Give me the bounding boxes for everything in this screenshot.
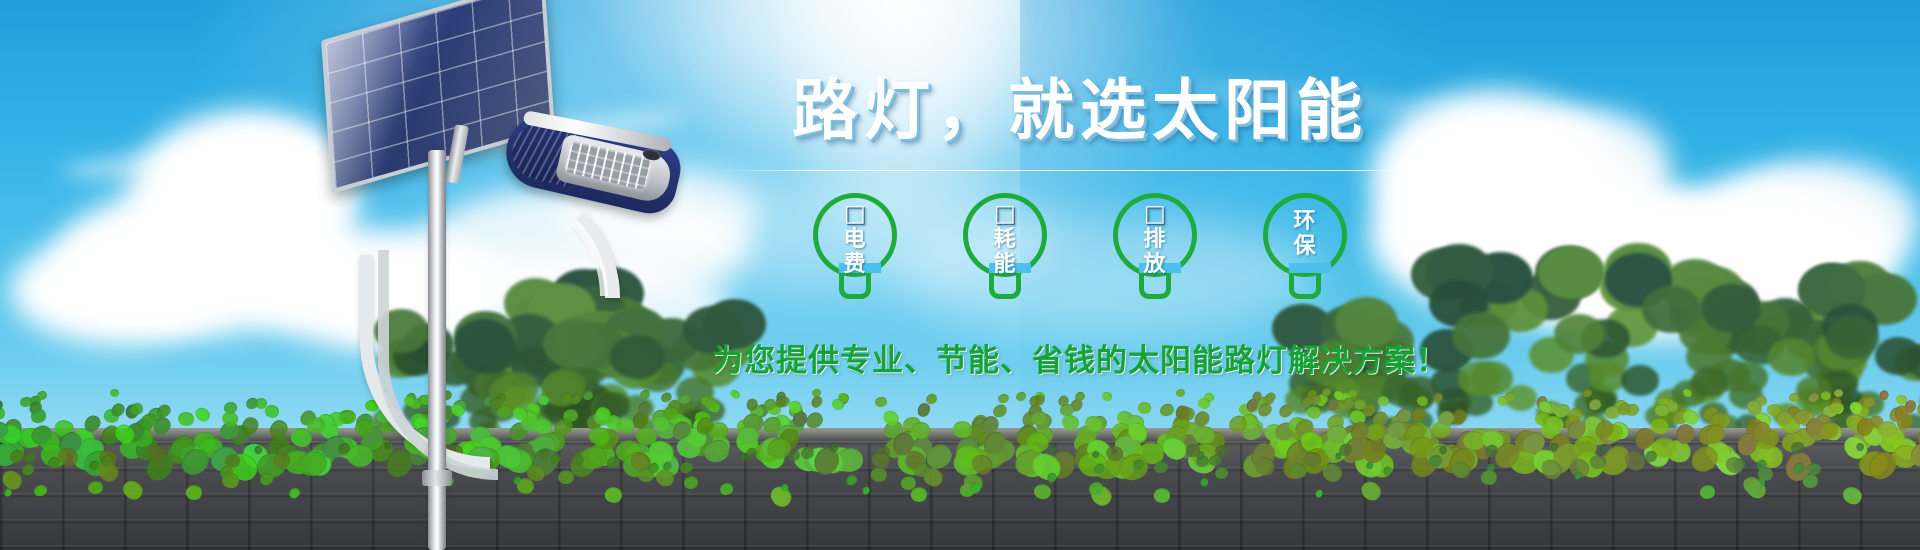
tree-foliage <box>1538 246 1605 300</box>
ivy-leaf <box>1807 392 1820 405</box>
ivy-leaf <box>10 450 24 463</box>
feature-bulb-item: □ 排 放 <box>1101 193 1209 305</box>
cloud <box>1510 110 1670 220</box>
tree-foliage <box>1452 312 1510 359</box>
feature-label-line1: 耗 <box>951 227 1059 252</box>
feature-label-line2: 保 <box>1251 234 1359 259</box>
feature-label: 排 放 <box>1101 227 1209 277</box>
ivy-leaf <box>0 406 5 421</box>
ivy-leaf <box>223 401 238 415</box>
ivy-leaf <box>37 391 47 400</box>
feature-label-line1: 电 <box>801 227 909 252</box>
feature-bulb-list: □ 电 费 □ 耗 能 <box>700 193 1460 305</box>
ivy-leaf <box>1136 401 1152 416</box>
ivy-leaf <box>1431 390 1445 404</box>
ivy-leaf <box>109 388 121 399</box>
feature-label-line2: 能 <box>951 252 1059 277</box>
ivy-leaf <box>997 393 1009 404</box>
feature-bulb-text: □ 耗 能 <box>951 201 1059 277</box>
ivy-leaf <box>875 396 887 407</box>
ivy-leaf <box>925 393 938 405</box>
cloud <box>1720 160 1920 280</box>
ivy-leaf <box>1015 391 1027 402</box>
feature-label: 电 费 <box>801 227 909 277</box>
feature-bulb-item: □ 电 费 <box>801 193 909 305</box>
ivy-leaf <box>1159 403 1175 418</box>
feature-zero-glyph: □ <box>994 201 1016 227</box>
feature-label-line2: 费 <box>801 252 909 277</box>
lamp-post-mast <box>428 150 446 550</box>
tree-foliage <box>1826 317 1879 359</box>
feature-bulb-text: □ 排 放 <box>1101 201 1209 277</box>
ivy-leaf <box>1186 444 1200 457</box>
lightbulb-base-icon <box>1289 269 1321 299</box>
ivy-leaf <box>804 410 825 430</box>
feature-label-line1: 排 <box>1101 227 1209 252</box>
ivy-leaf <box>1505 392 1516 401</box>
ivy-leaf <box>1437 410 1454 426</box>
lamp-post-collar <box>422 470 452 486</box>
tree-foliage <box>1642 286 1701 333</box>
feature-bulb-text: □ 电 费 <box>801 201 909 277</box>
title-divider <box>720 170 1440 171</box>
feature-zero-glyph: □ <box>844 201 866 227</box>
tree-foliage <box>1554 314 1604 354</box>
ivy-leaf <box>192 404 212 424</box>
feature-label: 环 保 <box>1251 209 1359 259</box>
ivy-leaf <box>1747 399 1760 411</box>
ivy-leaf <box>129 403 143 415</box>
feature-bulb-item: □ 耗 能 <box>951 193 1059 305</box>
feature-label: 耗 能 <box>951 227 1059 277</box>
ivy-leaf <box>1681 386 1693 398</box>
ivy-leaf <box>1588 399 1602 411</box>
feature-bulb-item: 环 保 <box>1251 193 1359 305</box>
promo-copy-block: 路灯，就选太阳能 □ 电 费 □ <box>700 78 1460 380</box>
ivy-leaf <box>1582 388 1593 399</box>
ivy-leaf <box>1215 445 1229 458</box>
ivy-leaf <box>30 409 47 424</box>
ivy-leaf <box>266 416 291 441</box>
feature-label-line1: 环 <box>1251 209 1359 234</box>
ivy-leaf <box>1153 460 1167 473</box>
tree-foliage <box>1768 338 1815 376</box>
page-title: 路灯，就选太阳能 <box>700 78 1460 144</box>
ivy-leaf <box>809 394 824 409</box>
ivy-leaf <box>1376 393 1391 407</box>
tree-foliage <box>1875 337 1920 375</box>
ivy-leaf <box>1789 393 1800 402</box>
ivy-leaf <box>1100 390 1114 403</box>
solar-street-light-banner: 路灯，就选太阳能 □ 电 费 □ <box>0 0 1920 550</box>
ivy-leaf <box>1176 389 1185 397</box>
ivy-foliage <box>0 380 1920 458</box>
feature-label-line2: 放 <box>1101 252 1209 277</box>
feature-bulb-text: 环 保 <box>1251 209 1359 259</box>
ivy-leaf <box>1415 394 1430 408</box>
cloud <box>10 235 230 345</box>
ivy-leaf <box>1878 388 1891 401</box>
promo-tagline: 为您提供专业、节能、省钱的太阳能路灯解决方案！ <box>700 335 1460 380</box>
feature-zero-glyph: □ <box>1144 201 1166 227</box>
tree-foliage <box>1701 284 1761 332</box>
ivy-leaf <box>1833 388 1843 398</box>
ivy-leaf <box>1408 405 1428 425</box>
